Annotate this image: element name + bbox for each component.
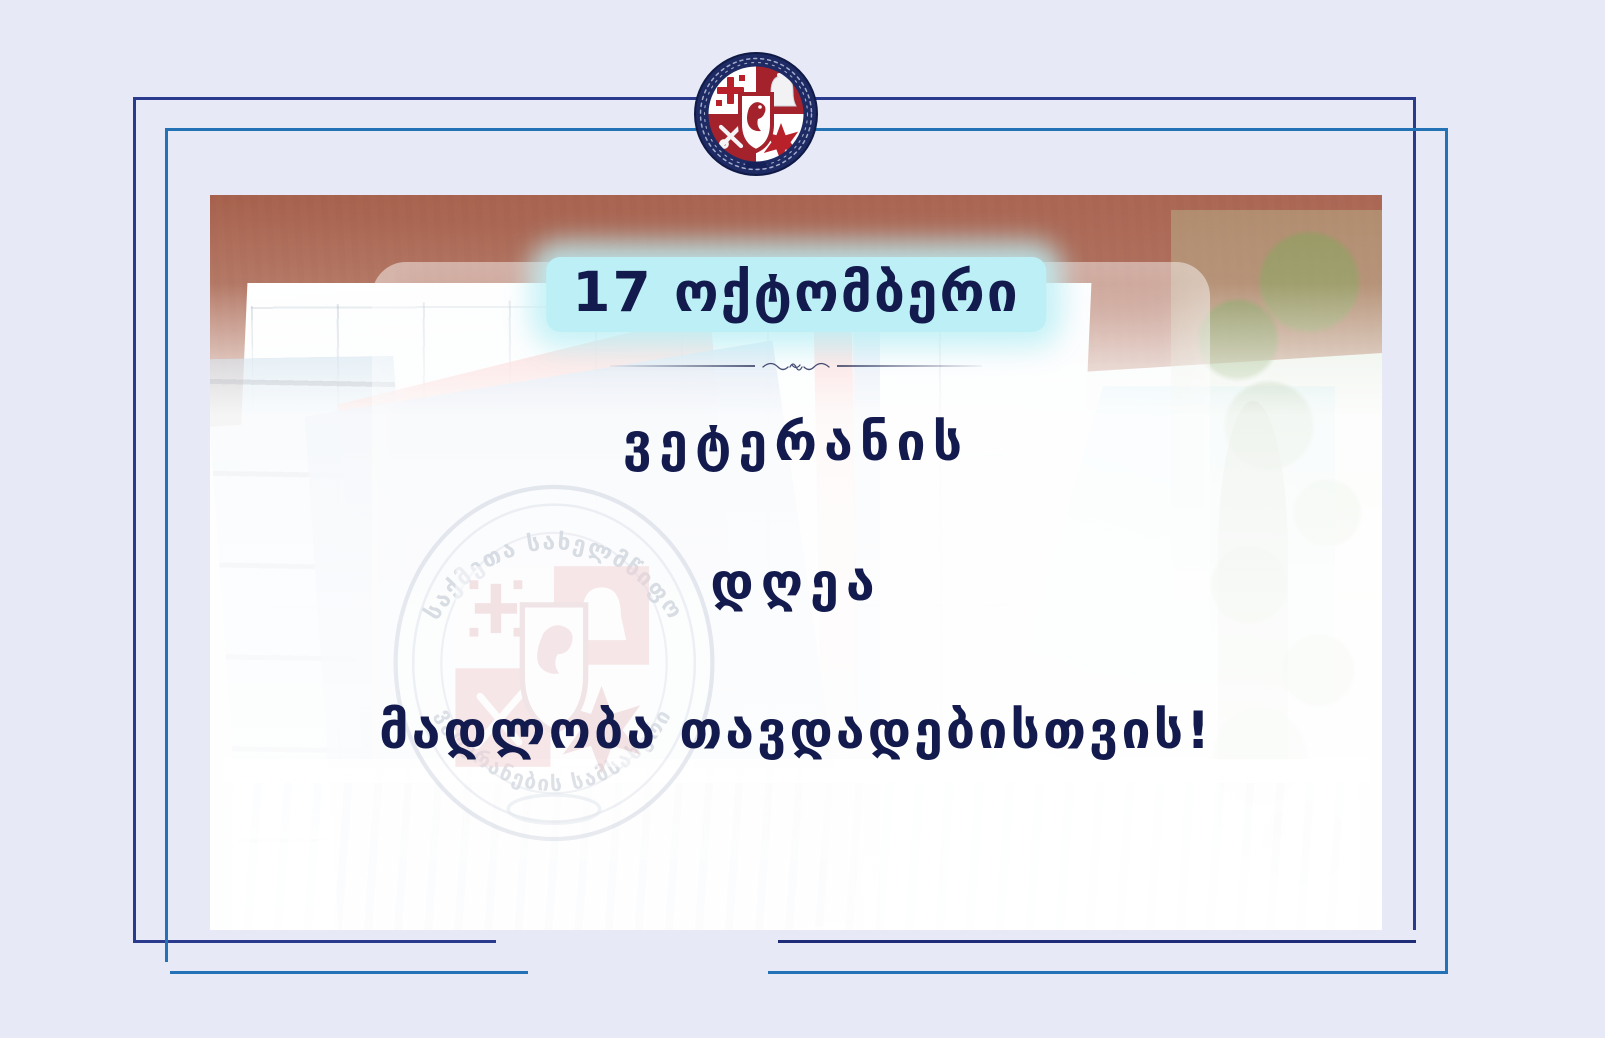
divider-flourish-icon: [761, 355, 831, 377]
blue-frame-left-gap: [160, 962, 170, 976]
date-headline: 17 ოქტომბერი: [546, 257, 1046, 332]
message-line-day: დღეა: [710, 553, 881, 613]
navy-frame-bottom-right-rail: [778, 940, 1416, 943]
divider-line-right: [837, 365, 982, 367]
ornamental-divider: [610, 353, 982, 379]
blue-frame-bottom-right-rail: [768, 971, 1448, 974]
message-line-veterans: ვეტერანის: [623, 413, 969, 473]
state-service-of-veterans-affairs-emblem: [692, 50, 820, 178]
message-line-thanks: მადლობა თავდადებისთვის!: [379, 701, 1213, 761]
navy-frame-bottom-gap: [496, 930, 778, 944]
divider-line-left: [610, 365, 755, 367]
blue-frame-bottom-gap: [528, 962, 768, 976]
greeting-poster: საქმეთა სახელმწიფო ვეტერანების სამსახური: [0, 0, 1605, 1038]
